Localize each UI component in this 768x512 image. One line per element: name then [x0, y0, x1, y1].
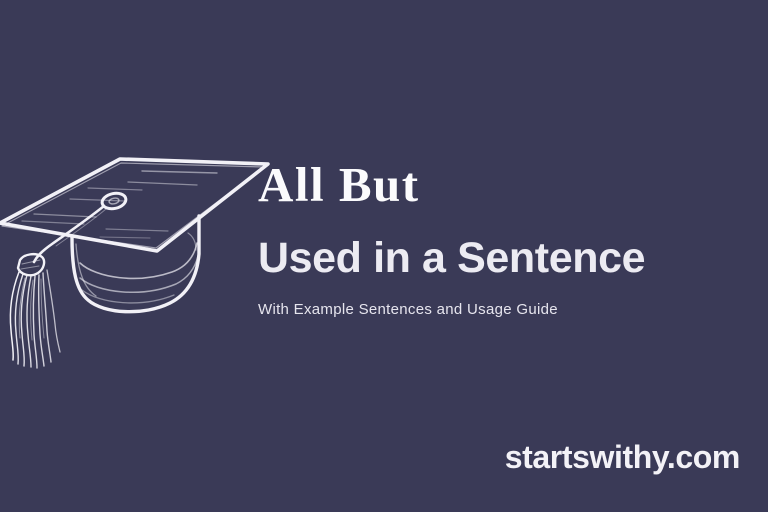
brand-wordmark: startswithy.com — [505, 439, 740, 476]
page-subtitle: With Example Sentences and Usage Guide — [258, 281, 758, 318]
page-title-phrase: All But — [258, 160, 758, 209]
promo-card: All But Used in a Sentence With Example … — [0, 0, 768, 512]
page-title-subline: Used in a Sentence — [258, 209, 758, 281]
headline-group: All But Used in a Sentence With Example … — [258, 160, 758, 318]
graduation-cap-icon — [0, 138, 278, 370]
